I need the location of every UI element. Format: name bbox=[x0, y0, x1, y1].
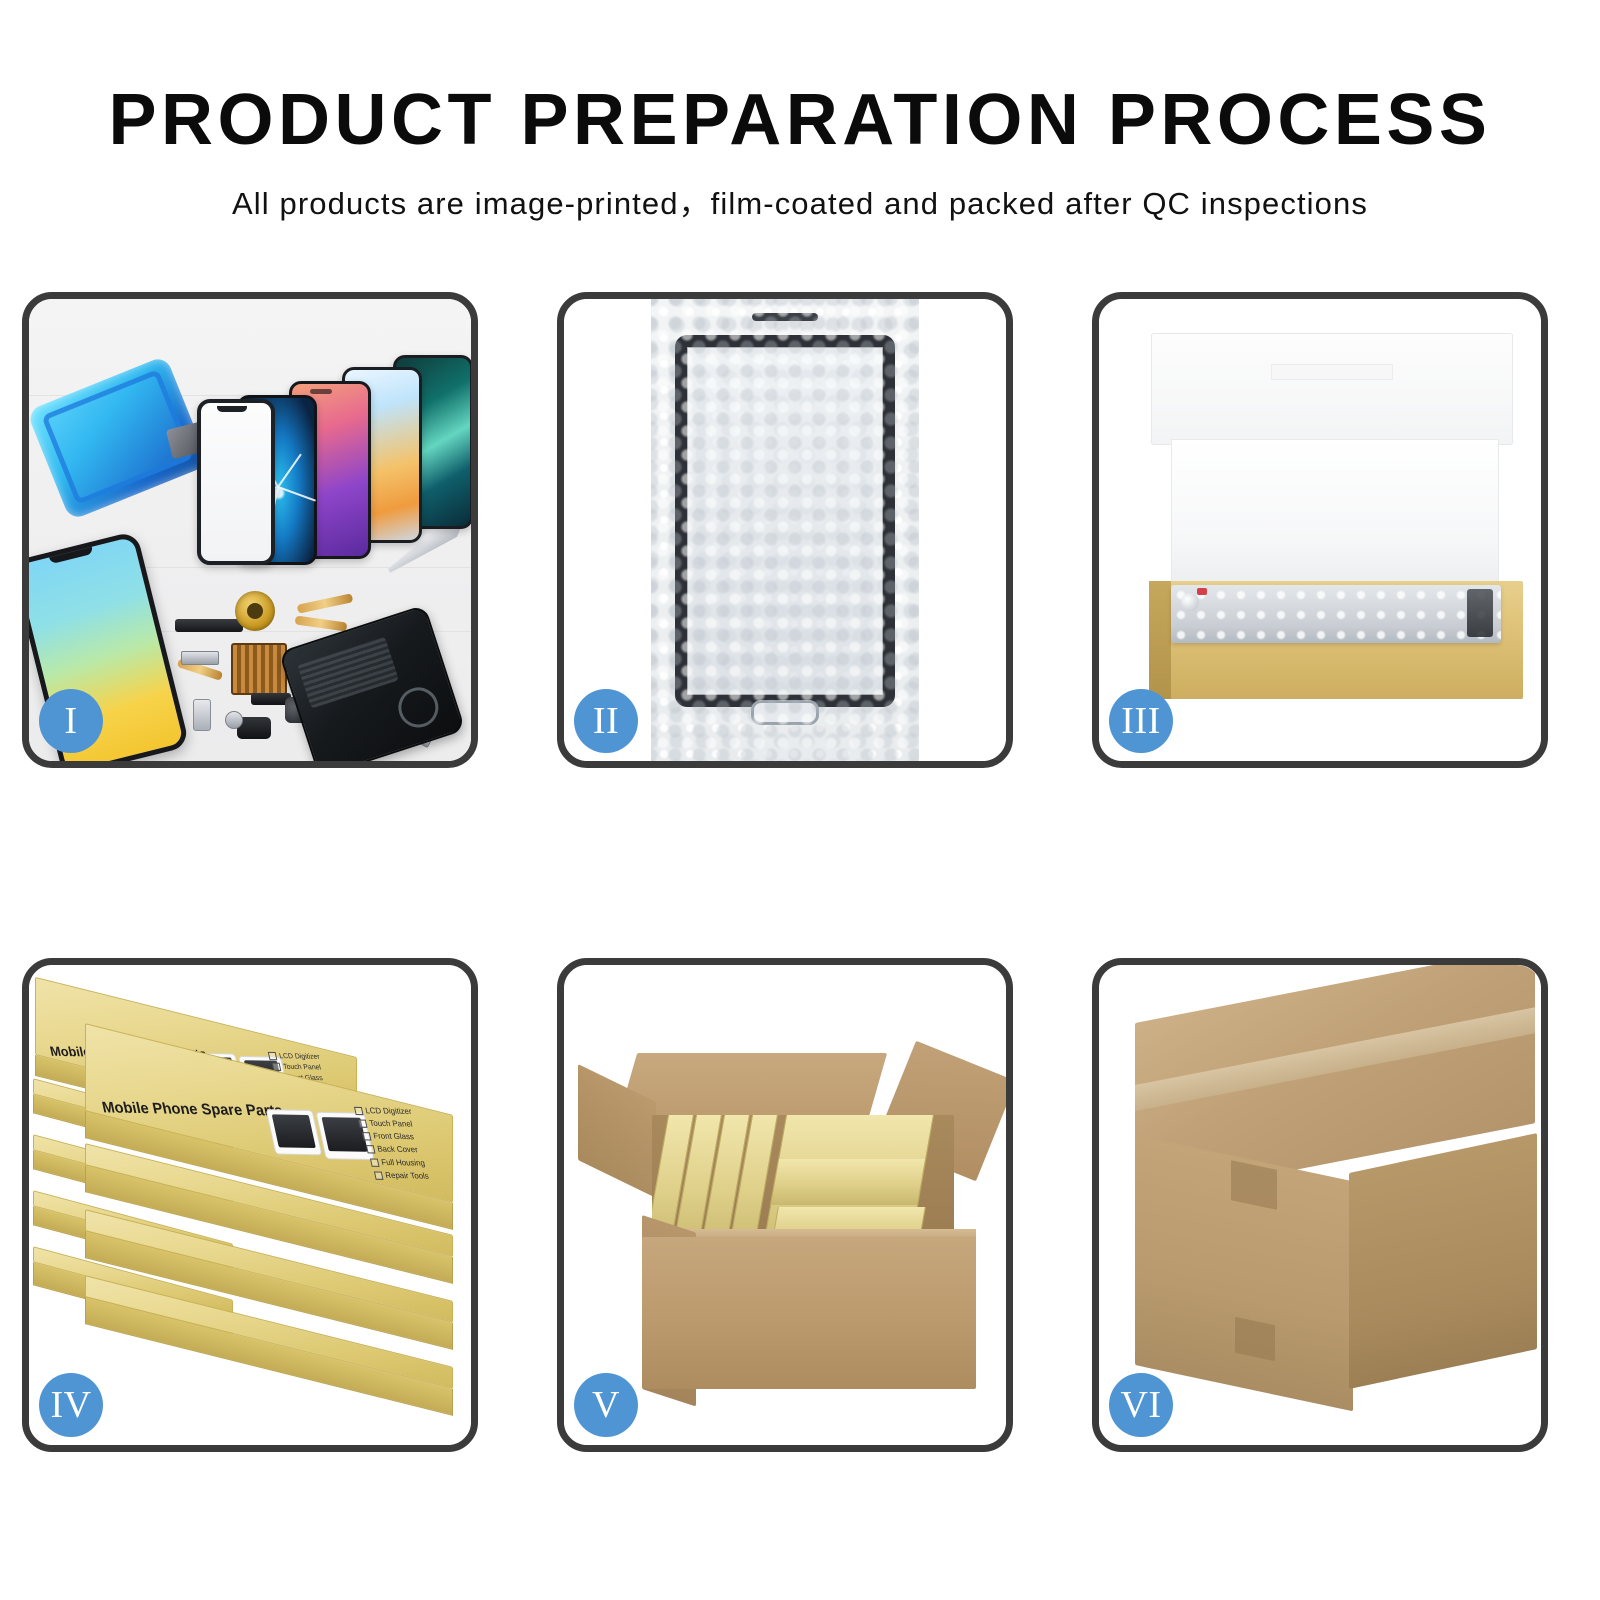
poster-root: PRODUCT PREPARATION PROCESS All products… bbox=[0, 0, 1600, 1600]
speaker-part bbox=[175, 619, 243, 632]
bubble-wrap-sheet bbox=[651, 299, 919, 761]
bracket-part bbox=[181, 651, 219, 665]
wireless-coil-part bbox=[235, 591, 275, 631]
screen-fan-group bbox=[179, 355, 471, 565]
sim-tray-part bbox=[193, 699, 211, 731]
panel-step-5: V bbox=[557, 958, 1013, 1452]
panel-step-4: Mobile Phone Spare Parts LCD Digitizer T… bbox=[22, 958, 478, 1452]
home-button-cutout bbox=[751, 700, 819, 725]
page-title: PRODUCT PREPARATION PROCESS bbox=[0, 0, 1600, 156]
step-badge-4: IV bbox=[39, 1373, 103, 1437]
ic-chip-part bbox=[231, 643, 287, 695]
red-label-dot bbox=[1197, 588, 1207, 595]
lid-tab bbox=[1271, 364, 1393, 380]
step-badge-5: V bbox=[574, 1373, 638, 1437]
panel-6-image bbox=[1099, 965, 1541, 1445]
gold-box-row bbox=[770, 1159, 926, 1205]
box-phone-image bbox=[266, 1109, 323, 1155]
box-checklist-item: Repair Tools bbox=[374, 1170, 430, 1180]
step-badge-3: III bbox=[1109, 689, 1173, 753]
foam-padding bbox=[1171, 439, 1499, 586]
panel-step-3: III bbox=[1092, 292, 1548, 768]
box-checklist-item: Full Housing bbox=[370, 1157, 426, 1167]
kraft-box-left-side bbox=[1149, 581, 1171, 699]
panel-3-image bbox=[1099, 299, 1541, 761]
step-badge-2: II bbox=[574, 689, 638, 753]
panel-step-2: II bbox=[557, 292, 1013, 768]
panel-5-image bbox=[564, 965, 1006, 1445]
wrapped-screen bbox=[675, 335, 895, 707]
screen-clear-glass bbox=[197, 399, 275, 565]
page-subtitle: All products are image-printed，film-coat… bbox=[0, 156, 1600, 219]
screw-part bbox=[225, 711, 243, 729]
header: PRODUCT PREPARATION PROCESS All products… bbox=[0, 0, 1600, 219]
carton-right-face bbox=[1349, 1133, 1537, 1389]
panel-1-image bbox=[29, 299, 471, 761]
crack-line bbox=[278, 486, 316, 502]
box-checklist-item: Back Cover bbox=[366, 1144, 419, 1154]
box-checklist-item: Touch Panel bbox=[358, 1118, 414, 1128]
box-checklist-item: LCD Digitizer bbox=[354, 1106, 413, 1116]
box-checklist-item: Front Glass bbox=[362, 1131, 415, 1141]
box-checklist-item: Touch Panel bbox=[272, 1063, 322, 1072]
box-checklist-item: LCD Digitizer bbox=[268, 1052, 321, 1061]
panel-step-1: I bbox=[22, 292, 478, 768]
wrapped-screen-in-box bbox=[1171, 585, 1501, 643]
panel-4-image: Mobile Phone Spare Parts LCD Digitizer T… bbox=[29, 965, 471, 1445]
panel-step-6: VI bbox=[1092, 958, 1548, 1452]
step-badge-6: VI bbox=[1109, 1373, 1173, 1437]
carton-front-face bbox=[642, 1237, 976, 1389]
crack-line bbox=[277, 453, 302, 487]
box-lid-white bbox=[1151, 333, 1513, 445]
box-brand-text: Mobile Phone Spare Parts bbox=[100, 1099, 284, 1120]
panel-2-image bbox=[564, 299, 1006, 761]
step-badge-1: I bbox=[39, 689, 103, 753]
